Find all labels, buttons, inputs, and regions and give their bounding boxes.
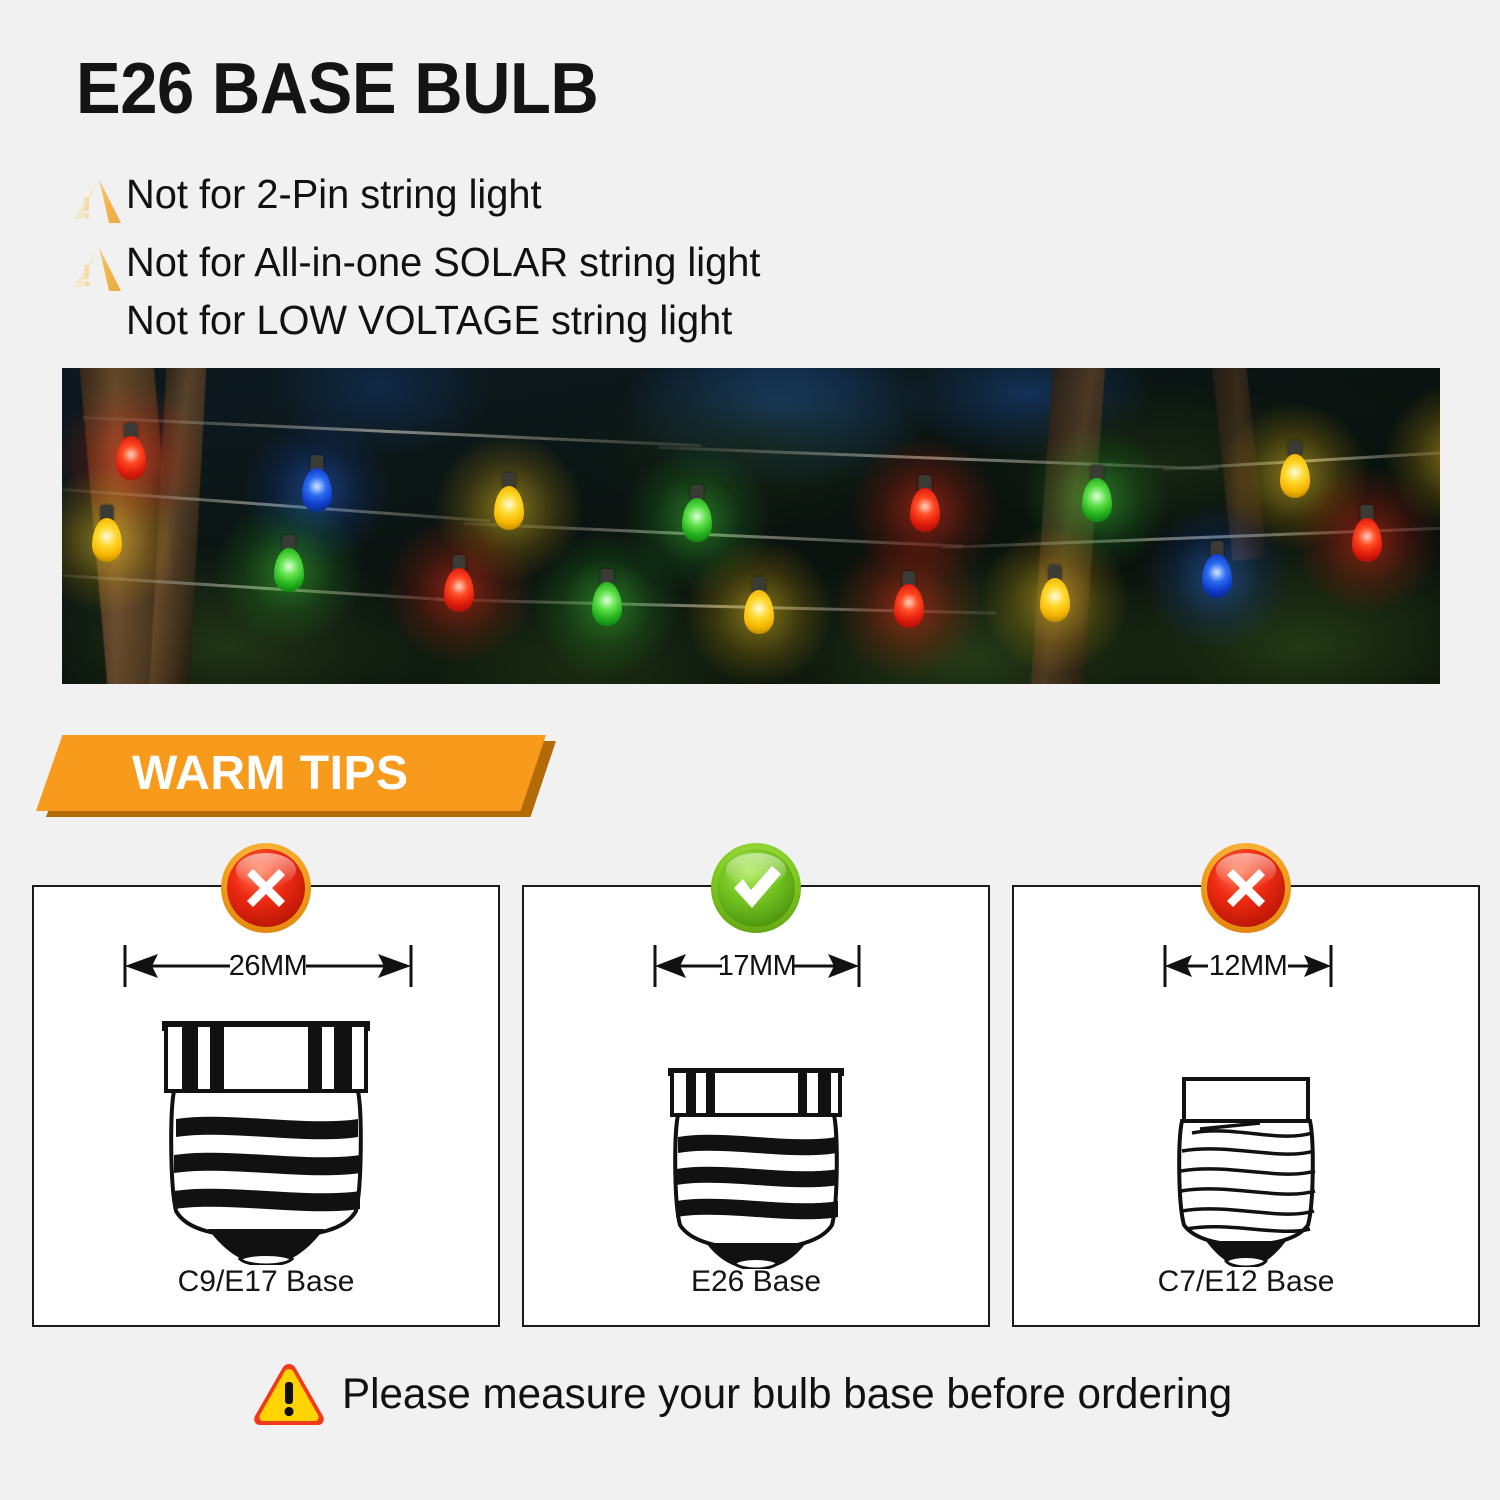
warning-item-line: Not for 2-Pin string light [126,165,1040,223]
string-bulb [274,548,304,592]
warning-triangle-icon [250,1358,328,1430]
red-x-badge-icon [220,842,312,934]
dimension-26mm: 26MM [122,939,414,993]
photo-scene [62,368,1440,684]
panel-caption: C9/E17 Base [34,1265,498,1299]
string-bulb [910,488,940,532]
dimension-label: 17MM [652,939,862,993]
footer-text: Please measure your bulb base before ord… [342,1370,1232,1419]
string-bulb [894,584,924,628]
warm-tips-label: WARM TIPS [36,735,546,811]
warning-item: Not for All-in-one SOLAR string light No… [68,233,1068,349]
string-bulb [682,498,712,542]
bulb-base-drawing-c9e17 [136,1015,396,1265]
infographic-page: E26 BASE BULB [0,0,1500,1500]
string-bulb [302,468,332,512]
string-light-photo [62,368,1440,684]
warm-tips-banner: WARM TIPS [36,735,556,817]
dimension-label: 26MM [122,939,414,993]
base-panel-e26: 17MM [522,885,990,1327]
page-title: E26 BASE BULB [76,48,598,130]
string-bulb [494,486,524,530]
base-comparison-row: 26MM [32,885,1480,1327]
dimension-12mm: 12MM [1162,939,1334,993]
bulb-base-drawing-c7e12 [1162,1073,1330,1267]
base-panel-c7e12: 12MM [1012,885,1480,1327]
bulb-base-drawing-e26 [652,1063,860,1269]
string-bulb [1280,454,1310,498]
red-x-badge-icon [1200,842,1292,934]
string-bulb [92,518,122,562]
string-bulb [444,568,474,612]
green-check-badge-icon [710,842,802,934]
string-bulb [1202,554,1232,598]
warning-triangle-icon [68,175,126,227]
dimension-17mm: 17MM [652,939,862,993]
string-bulb [1040,578,1070,622]
panel-caption: E26 Base [524,1265,988,1299]
string-bulb [1082,478,1112,522]
warning-item-line: Not for LOW VOLTAGE string light [126,291,1040,349]
string-bulb [116,436,146,480]
panel-caption: C7/E12 Base [1014,1265,1478,1299]
warning-item-text-group: Not for All-in-one SOLAR string light No… [126,233,1068,349]
warning-item: Not for 2-Pin string light [68,165,1068,227]
string-bulb [592,582,622,626]
warning-triangle-icon [68,243,126,295]
string-bulb [1352,518,1382,562]
base-panel-c9e17: 26MM [32,885,500,1327]
warning-list: Not for 2-Pin string light [68,165,1068,355]
dimension-label: 12MM [1162,939,1334,993]
footer-note: Please measure your bulb base before ord… [0,1358,1500,1430]
warning-item-line: Not for All-in-one SOLAR string light [126,233,1040,291]
warning-item-text-group: Not for 2-Pin string light [126,165,1068,223]
string-bulb [744,590,774,634]
